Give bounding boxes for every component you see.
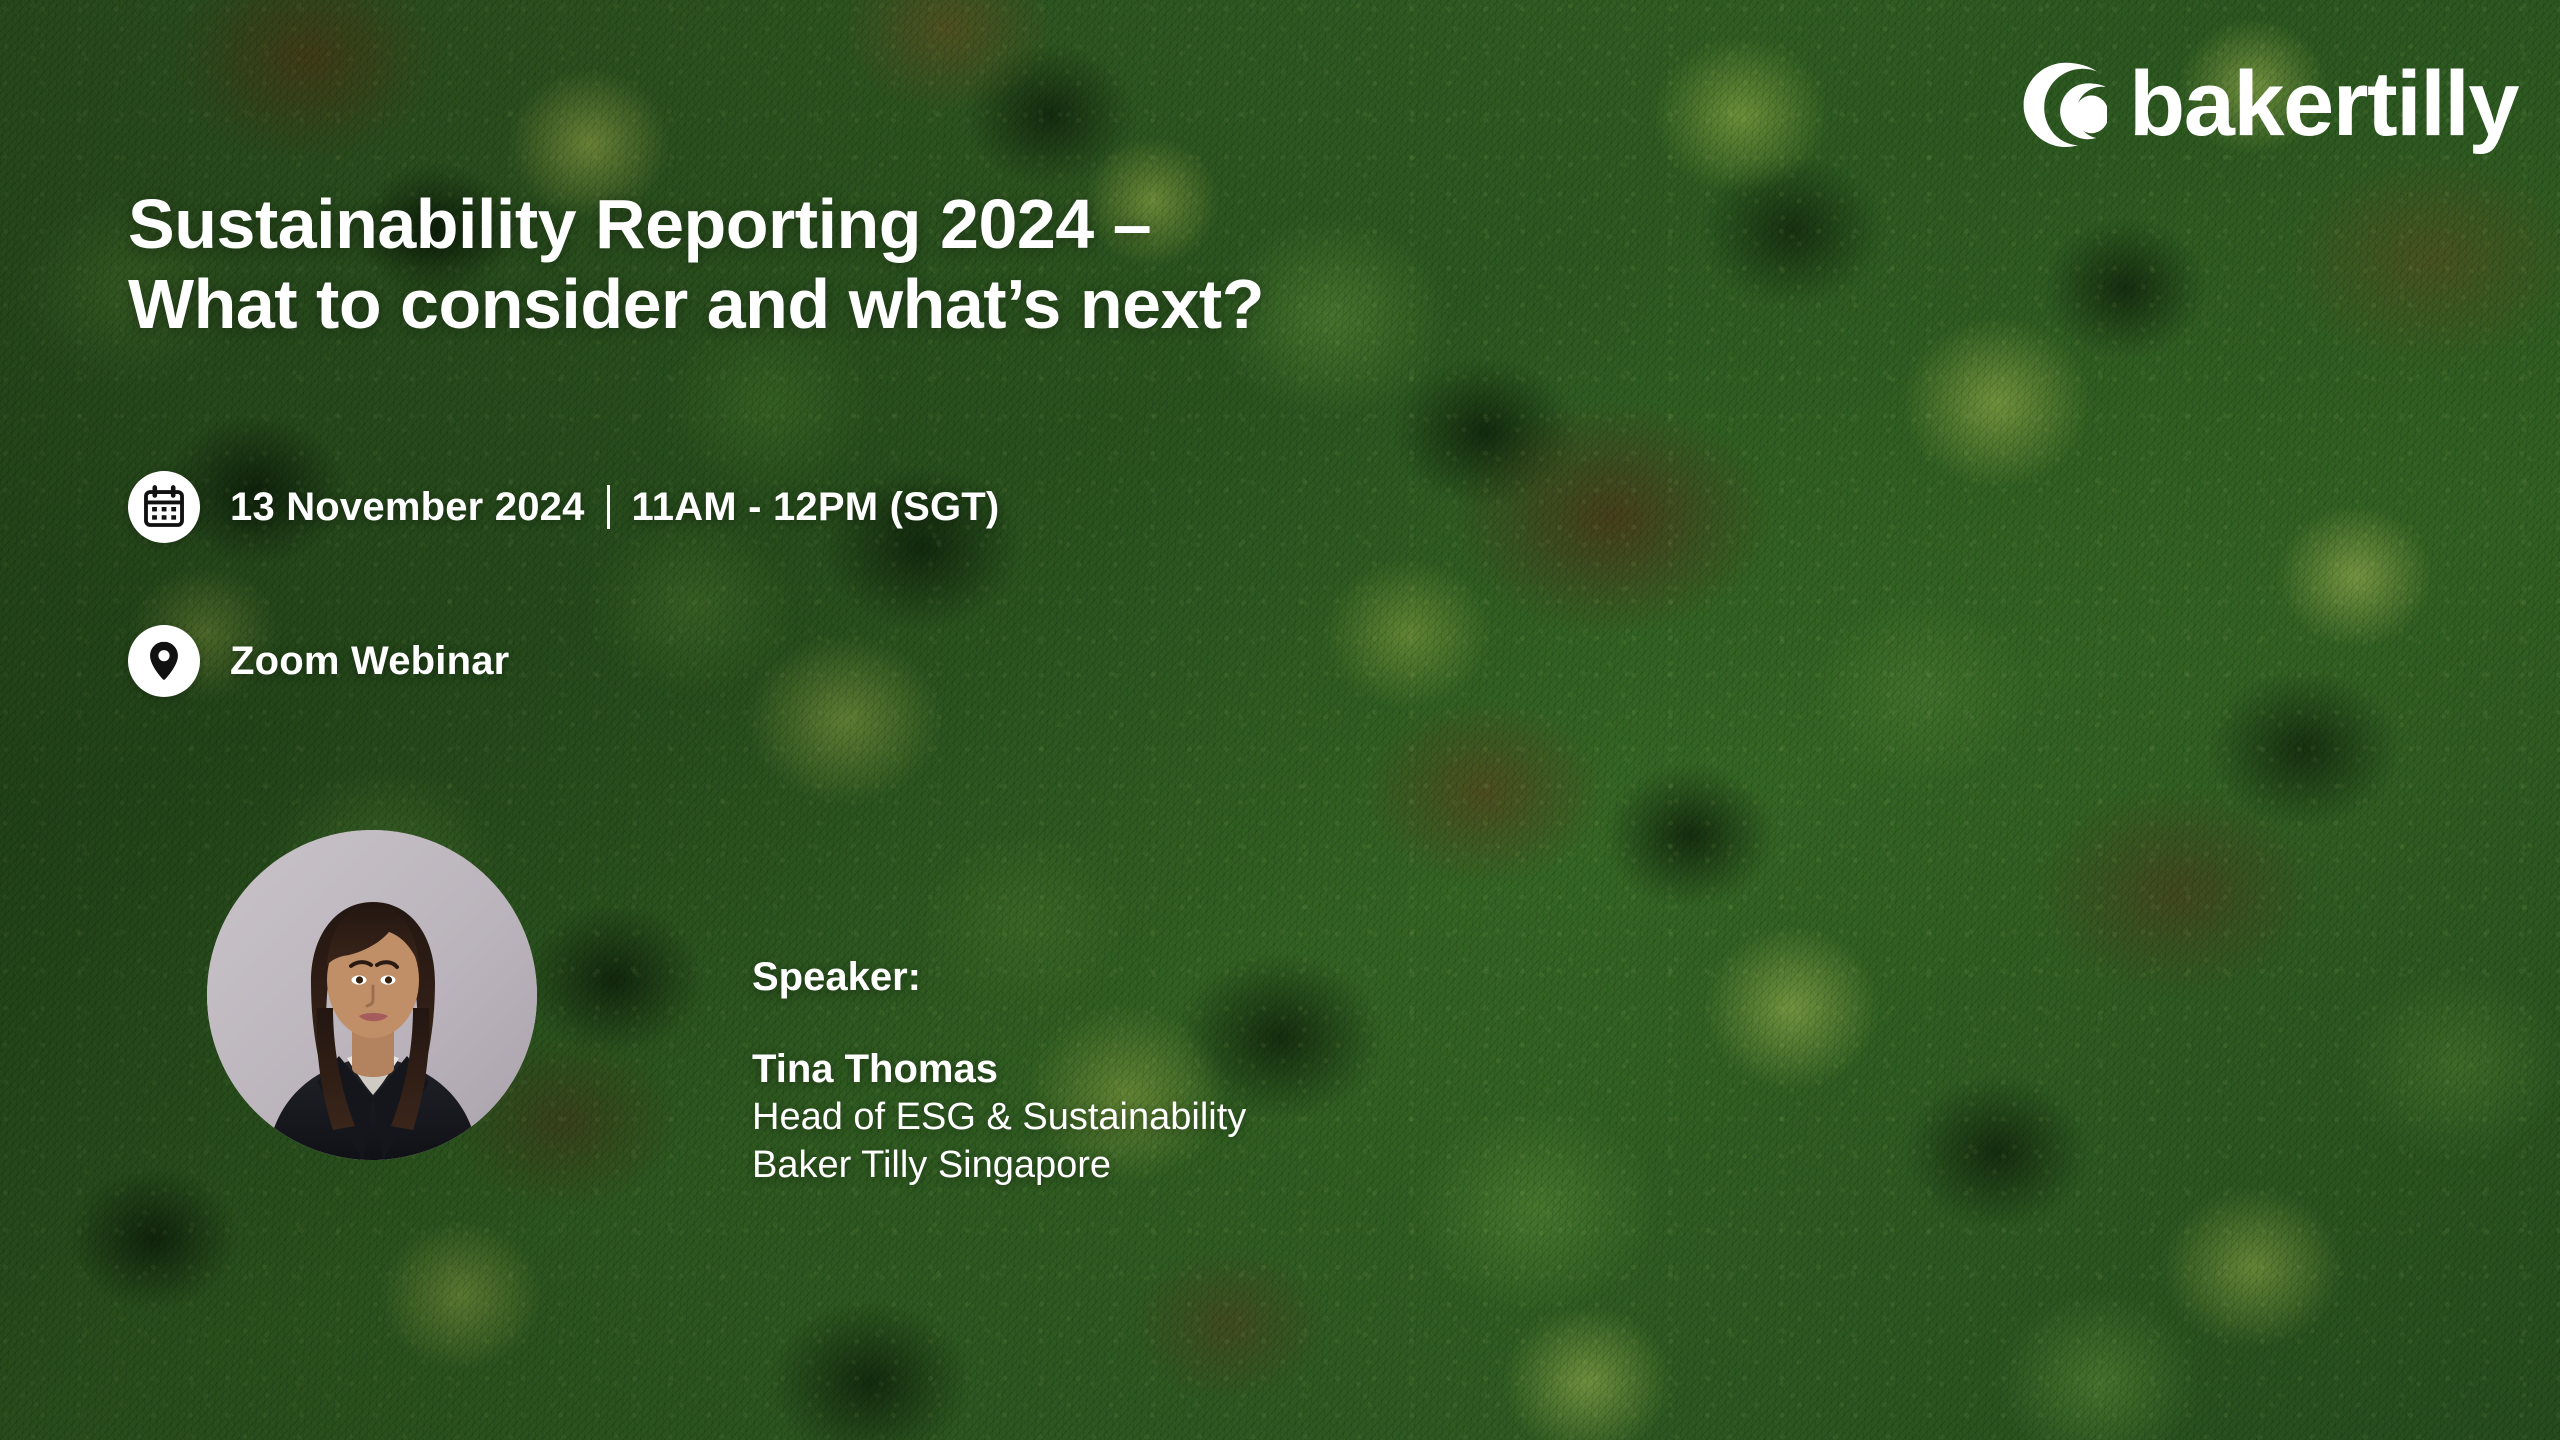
map-pin-icon: [128, 625, 200, 697]
calendar-icon: [128, 471, 200, 543]
webinar-promo-poster: bakertilly Sustainability Reporting 2024…: [0, 0, 2560, 1440]
event-datetime-row: 13 November 2024 11AM - 12PM (SGT): [128, 471, 999, 543]
title-line-2: What to consider and what’s next?: [128, 265, 1264, 345]
speaker-name: Tina Thomas: [752, 1045, 1246, 1094]
title-line-1: Sustainability Reporting 2024 –: [128, 185, 1264, 265]
page-title: Sustainability Reporting 2024 – What to …: [128, 185, 1264, 345]
speaker-label: Speaker:: [752, 955, 1246, 999]
datetime-separator: [607, 485, 610, 529]
bakertilly-wordmark: bakertilly: [2129, 58, 2518, 150]
speaker-avatar: [207, 830, 537, 1160]
bakertilly-logo: bakertilly: [2021, 58, 2518, 150]
event-time: 11AM - 12PM (SGT): [632, 485, 1000, 530]
speaker-organisation: Baker Tilly Singapore: [752, 1142, 1246, 1190]
event-location-row: Zoom Webinar: [128, 625, 509, 697]
event-datetime-text: 13 November 2024 11AM - 12PM (SGT): [230, 485, 999, 530]
event-date: 13 November 2024: [230, 485, 585, 530]
event-location-text: Zoom Webinar: [230, 639, 509, 684]
speaker-role: Head of ESG & Sustainability: [752, 1094, 1246, 1142]
bakertilly-crescent-mark-icon: [2021, 61, 2107, 147]
speaker-details: Speaker: Tina Thomas Head of ESG & Susta…: [752, 955, 1246, 1190]
